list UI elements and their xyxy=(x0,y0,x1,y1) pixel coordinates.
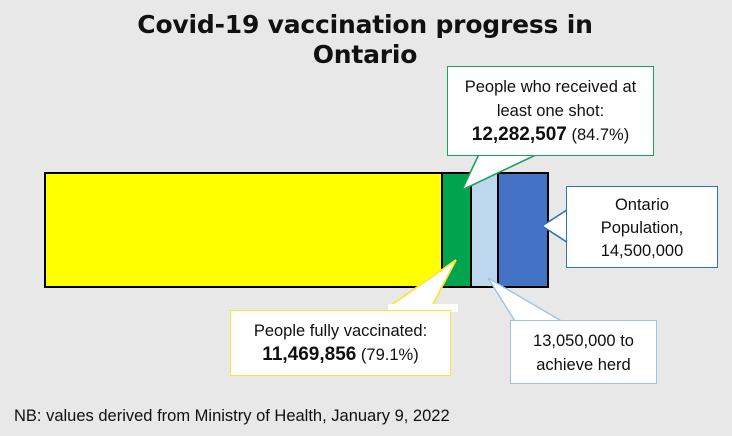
callout-fully-line1: People fully vaccinated: xyxy=(231,319,450,343)
callout-population-line3: 14,500,000 xyxy=(567,240,717,263)
page-title: Covid-19 vaccination progress in Ontario xyxy=(110,10,620,70)
callout-tail-fully-vaccinated xyxy=(370,258,480,318)
callout-population-line1: Ontario xyxy=(567,194,717,217)
callout-tail-one-shot xyxy=(440,150,560,190)
callout-herd-line1: 13,050,000 to xyxy=(511,329,656,353)
callout-fully-percent: (79.1%) xyxy=(356,346,418,364)
callout-herd-immunity: 13,050,000 to achieve herd xyxy=(510,320,657,384)
callout-one-shot-percent: (84.7%) xyxy=(567,126,629,144)
callout-one-shot-line1: People who received at xyxy=(448,75,653,99)
source-footnote: NB: values derived from Ministry of Heal… xyxy=(14,407,450,426)
callout-fully-value: 11,469,856 xyxy=(262,344,356,365)
callout-ontario-population: Ontario Population, 14,500,000 xyxy=(566,186,718,268)
callout-population-line2: Population, xyxy=(567,217,717,240)
callout-one-shot-value: 12,282,507 xyxy=(472,124,567,145)
callout-one-shot: People who received at least one shot: 1… xyxy=(447,66,654,156)
callout-fully-vaccinated: People fully vaccinated: 11,469,856 (79.… xyxy=(230,310,451,376)
callout-herd-line2: achieve herd xyxy=(511,353,656,377)
callout-one-shot-line2: least one shot: xyxy=(448,99,653,123)
